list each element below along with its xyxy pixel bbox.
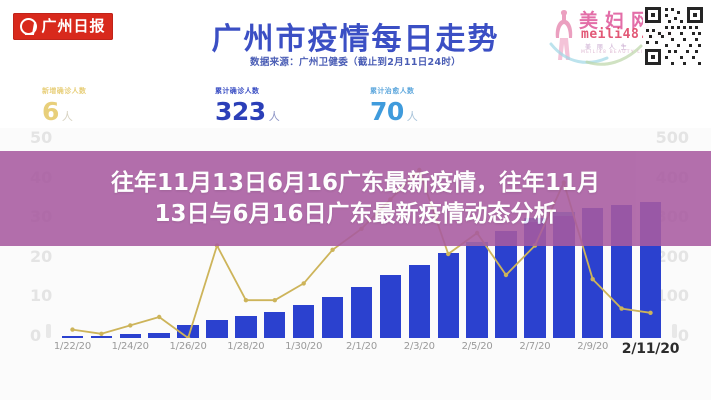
y-tick-left: 10 [30, 288, 52, 304]
x-tick-label: 2/11/20 [622, 341, 680, 357]
stat-new-confirmed-label: 新增确诊人数 [42, 86, 86, 96]
stat-total-confirmed-value: 323 [215, 99, 266, 124]
x-tick-label: 2/9/20 [577, 341, 608, 352]
site-watermark: 美妇网 meili48.com 美 丽 人 生 MEILI48 BEAUTY L… [545, 2, 707, 70]
bar [62, 336, 83, 338]
bar [293, 305, 314, 338]
stat-new-confirmed: 新增确诊人数 6 人 [42, 86, 86, 124]
x-tick-label: 1/24/20 [112, 341, 149, 352]
axis-cap-left [46, 324, 51, 338]
infographic-root: 广州日报 广州市疫情每日走势 数据来源：广州卫健委（截止到2月11日24时） 美… [0, 0, 711, 400]
x-tick-label: 1/30/20 [285, 341, 322, 352]
stat-total-cured: 累计治愈人数 70 人 [370, 86, 418, 124]
stat-new-confirmed-value: 6 [42, 99, 59, 124]
bar [466, 242, 487, 338]
y-tick-left: 20 [30, 249, 52, 265]
x-tick-label: 2/5/20 [462, 341, 493, 352]
bar [322, 297, 343, 338]
x-tick-label: 2/7/20 [519, 341, 550, 352]
bar [380, 275, 401, 338]
x-tick-label: 1/22/20 [54, 341, 91, 352]
x-axis-ticks: 1/22/201/24/201/26/201/28/201/30/202/1/2… [58, 341, 665, 361]
bar [148, 333, 169, 338]
stat-total-confirmed: 累计确诊人数 323 人 [215, 86, 280, 124]
stat-total-cured-unit: 人 [407, 108, 418, 124]
article-title-line-1: 往年11月13日6月16广东最新疫情，往年11月 [14, 168, 697, 198]
article-title-line-2: 13日与6月16日广东最新疫情动态分析 [14, 199, 697, 229]
bar [120, 334, 141, 338]
bar [264, 312, 285, 338]
axis-cap-right [672, 324, 677, 338]
bar [409, 265, 430, 339]
x-tick-label: 2/3/20 [404, 341, 435, 352]
bar [235, 316, 256, 338]
y-tick-left: 50 [30, 130, 52, 146]
stat-total-confirmed-label: 累计确诊人数 [215, 86, 280, 96]
article-title-overlay: 往年11月13日6月16广东最新疫情，往年11月 13日与6月16日广东最新疫情… [0, 151, 711, 246]
stat-new-confirmed-unit: 人 [62, 108, 73, 124]
bar [206, 320, 227, 338]
qr-code-icon [643, 5, 705, 67]
bar [177, 325, 198, 338]
watermark-subtitle-latin: MEILI48 BEAUTY LIFE [581, 50, 651, 55]
bar [438, 253, 459, 338]
x-tick-label: 2/1/20 [346, 341, 377, 352]
chart-header: 广州日报 广州市疫情每日走势 数据来源：广州卫健委（截止到2月11日24时） 美… [0, 0, 711, 140]
bar [91, 336, 112, 338]
y-tick-left: 0 [30, 328, 41, 344]
stat-total-cured-value: 70 [370, 99, 404, 124]
stat-total-cured-label: 累计治愈人数 [370, 86, 418, 96]
x-tick-label: 1/26/20 [169, 341, 206, 352]
bar [351, 287, 372, 338]
bar [495, 231, 516, 338]
stat-total-confirmed-unit: 人 [269, 108, 280, 124]
summary-stats: 新增确诊人数 6 人 累计确诊人数 323 人 累计治愈人数 70 人 [0, 86, 711, 130]
x-tick-label: 1/28/20 [227, 341, 264, 352]
